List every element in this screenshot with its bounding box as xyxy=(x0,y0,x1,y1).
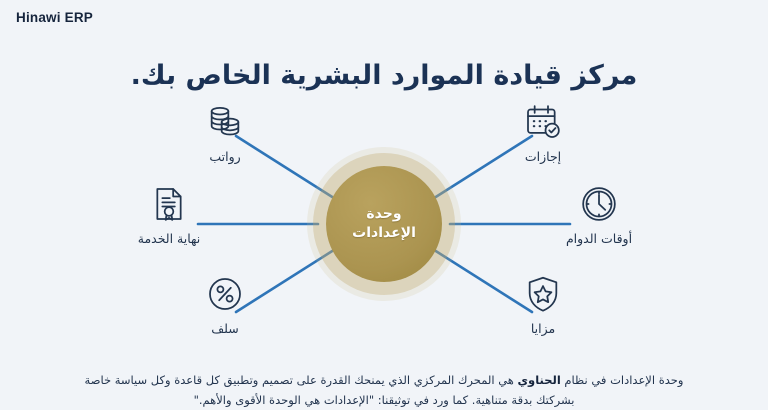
caption-paragraph: وحدة الإعدادات في نظام الحناوي هي المحرك… xyxy=(64,370,704,410)
node-end-of-service[interactable]: نهاية الخدمة xyxy=(104,184,234,246)
shield-star-icon xyxy=(523,274,563,314)
brand-logo: Hinawi ERP xyxy=(16,10,93,25)
caption-part-2: هي المحرك المركزي الذي يمنحك القدرة على … xyxy=(85,373,575,407)
hub-label-line2: الإعدادات xyxy=(352,224,416,243)
caption-emphasis: الحناوي xyxy=(518,373,561,387)
hub-settings-unit[interactable]: وحدة الإعدادات xyxy=(326,166,442,282)
node-label-working-hours: أوقات الدوام xyxy=(566,231,632,246)
node-benefits[interactable]: مزايا xyxy=(478,274,608,336)
coins-icon xyxy=(205,102,245,142)
calendar-check-icon xyxy=(523,102,563,142)
node-leaves[interactable]: إجازات xyxy=(478,102,608,164)
node-salaries[interactable]: رواتب xyxy=(160,102,290,164)
hub-and-spoke-diagram: وحدة الإعدادات رواتب xyxy=(0,96,768,352)
node-label-end-of-service: نهاية الخدمة xyxy=(138,231,201,246)
percent-circle-icon xyxy=(205,274,245,314)
node-working-hours[interactable]: أوقات الدوام xyxy=(534,184,664,246)
hub-label-line1: وحدة xyxy=(366,205,401,224)
page-title: مركز قيادة الموارد البشرية الخاص بك. xyxy=(0,60,768,91)
caption-part-1: وحدة الإعدادات في نظام xyxy=(561,373,684,387)
clock-icon xyxy=(579,184,619,224)
node-advances[interactable]: سلف xyxy=(160,274,290,336)
node-label-leaves: إجازات xyxy=(525,149,561,164)
infographic-canvas: Hinawi ERP مركز قيادة الموارد البشرية ال… xyxy=(0,0,768,410)
certificate-icon xyxy=(149,184,189,224)
node-label-salaries: رواتب xyxy=(209,149,240,164)
node-label-advances: سلف xyxy=(211,321,239,336)
node-label-benefits: مزايا xyxy=(531,321,555,336)
